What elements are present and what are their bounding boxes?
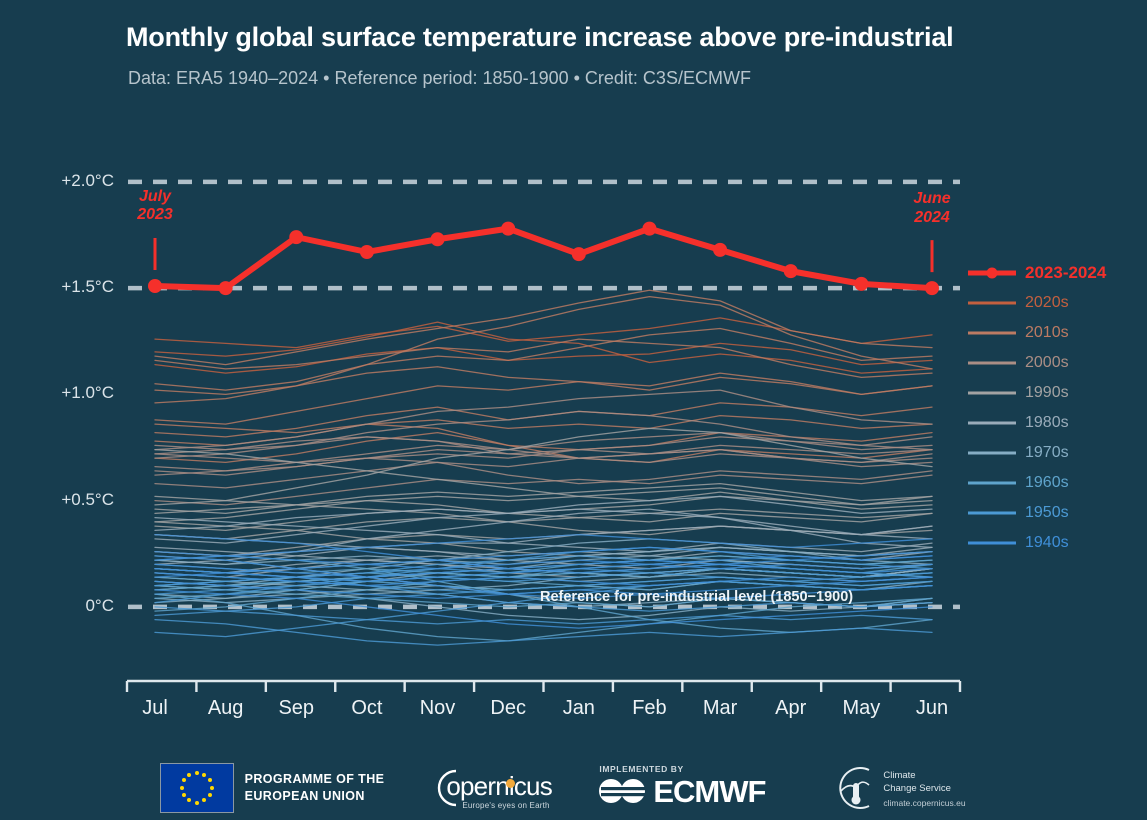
footer-logos: PROGRAMME OF THE EUROPEAN UNION opernicu… [0,755,1147,820]
eu-star-icon [202,773,206,777]
legend-item-label: 2023-2024 [1025,263,1106,283]
legend-item-1990s[interactable]: 1990s [968,378,1143,408]
eu-programme-text: PROGRAMME OF THE EUROPEAN UNION [245,771,385,805]
chart-root: Monthly global surface temperature incre… [0,0,1147,820]
legend-swatch-icon [968,296,1016,310]
implemented-by-label: IMPLEMENTED BY [599,764,683,774]
annotation-july-2023: July 2023 [110,188,200,225]
legend-swatch-icon [968,476,1016,490]
x-axis-tick-label: Jun [897,697,967,720]
legend-item-label: 1980s [1025,414,1069,432]
c3s-url: climate.copernicus.eu [883,798,965,808]
x-axis-tick-label: Nov [403,697,473,720]
legend-swatch-icon [968,416,1016,430]
y-axis-tick-label: +2.0°C [18,171,114,191]
eu-star-icon [187,798,191,802]
legend-item-label: 2020s [1025,294,1069,312]
eu-star-icon [195,801,199,805]
copernicus-logo: opernicus Europe's eyes on Earth [420,763,555,813]
y-axis-tick-label: +0.5°C [18,490,114,510]
eu-star-icon [202,798,206,802]
legend: 2023-20242020s2010s2000s1990s1980s1970s1… [968,258,1143,558]
copernicus-wordmark: opernicus [446,771,552,802]
eu-star-icon [208,793,212,797]
highlight-series-2023-2024 [148,222,939,296]
x-axis-tick-label: Sep [261,697,331,720]
legend-item-2010s[interactable]: 2010s [968,318,1143,348]
x-axis-tick-label: Apr [756,697,826,720]
reference-level-label: Reference for pre-industrial level (1850… [540,589,853,605]
x-axis-tick-label: Jan [544,697,614,720]
legend-item-label: 1950s [1025,504,1069,522]
legend-item-1980s[interactable]: 1980s [968,408,1143,438]
c3s-thermometer-icon [829,763,881,813]
eu-star-icon [182,778,186,782]
legend-item-2000s[interactable]: 2000s [968,348,1143,378]
legend-swatch-icon [968,326,1016,340]
legend-item-label: 1990s [1025,384,1069,402]
x-axis-tick-label: Aug [191,697,261,720]
eu-line-2: EUROPEAN UNION [245,788,385,805]
c3s-name: Climate Change Service [883,769,951,796]
legend-item-1970s[interactable]: 1970s [968,438,1143,468]
eu-star-icon [195,771,199,775]
eu-logo: PROGRAMME OF THE EUROPEAN UNION [160,763,385,813]
ecmwf-wordmark: ECMWF [653,774,765,810]
eu-star-icon [210,786,214,790]
c3s-logo: Climate Change Service climate.copernicu… [827,762,987,814]
legend-item-label: 1940s [1025,534,1069,552]
x-axis-tick-label: Oct [332,697,402,720]
legend-swatch-icon [968,506,1016,520]
x-axis-tick-label: Dec [473,697,543,720]
x-axis [127,681,960,692]
copernicus-tagline: Europe's eyes on Earth [462,801,549,810]
eu-star-icon [187,773,191,777]
eu-line-1: PROGRAMME OF THE [245,771,385,788]
c3s-line-2: Change Service [883,782,951,795]
eu-flag-icon [160,763,234,813]
legend-swatch-icon [968,356,1016,370]
legend-item-2023-2024[interactable]: 2023-2024 [968,258,1143,288]
legend-item-label: 1970s [1025,444,1069,462]
eu-star-icon [182,793,186,797]
legend-item-1940s[interactable]: 1940s [968,528,1143,558]
legend-item-label: 1960s [1025,474,1069,492]
x-axis-tick-label: Feb [614,697,684,720]
ecmwf-logo: IMPLEMENTED BY ECMWF [591,762,791,814]
x-axis-tick-label: Jul [120,697,190,720]
annotation-end-line1: June [887,190,977,208]
legend-swatch-icon [968,446,1016,460]
legend-item-1960s[interactable]: 1960s [968,468,1143,498]
annotation-start-line1: July [110,188,200,206]
legend-swatch-icon [968,266,1016,280]
ecmwf-mark-icon [595,776,651,806]
eu-star-icon [208,778,212,782]
legend-item-label: 2010s [1025,324,1069,342]
y-axis-tick-label: +1.5°C [18,277,114,297]
x-axis-tick-label: Mar [685,697,755,720]
annotation-start-line2: 2023 [110,206,200,224]
x-axis-tick-label: May [826,697,896,720]
annotation-end-line2: 2024 [887,209,977,227]
annotation-june-2024: June 2024 [887,190,977,227]
y-axis-tick-label: +1.0°C [18,383,114,403]
eu-star-icon [180,786,184,790]
legend-item-2020s[interactable]: 2020s [968,288,1143,318]
legend-swatch-icon [968,386,1016,400]
c3s-line-1: Climate [883,769,951,782]
y-axis-tick-label: 0°C [18,596,114,616]
legend-item-1950s[interactable]: 1950s [968,498,1143,528]
legend-swatch-icon [968,536,1016,550]
copernicus-dot-icon [506,779,515,788]
legend-item-label: 2000s [1025,354,1069,372]
